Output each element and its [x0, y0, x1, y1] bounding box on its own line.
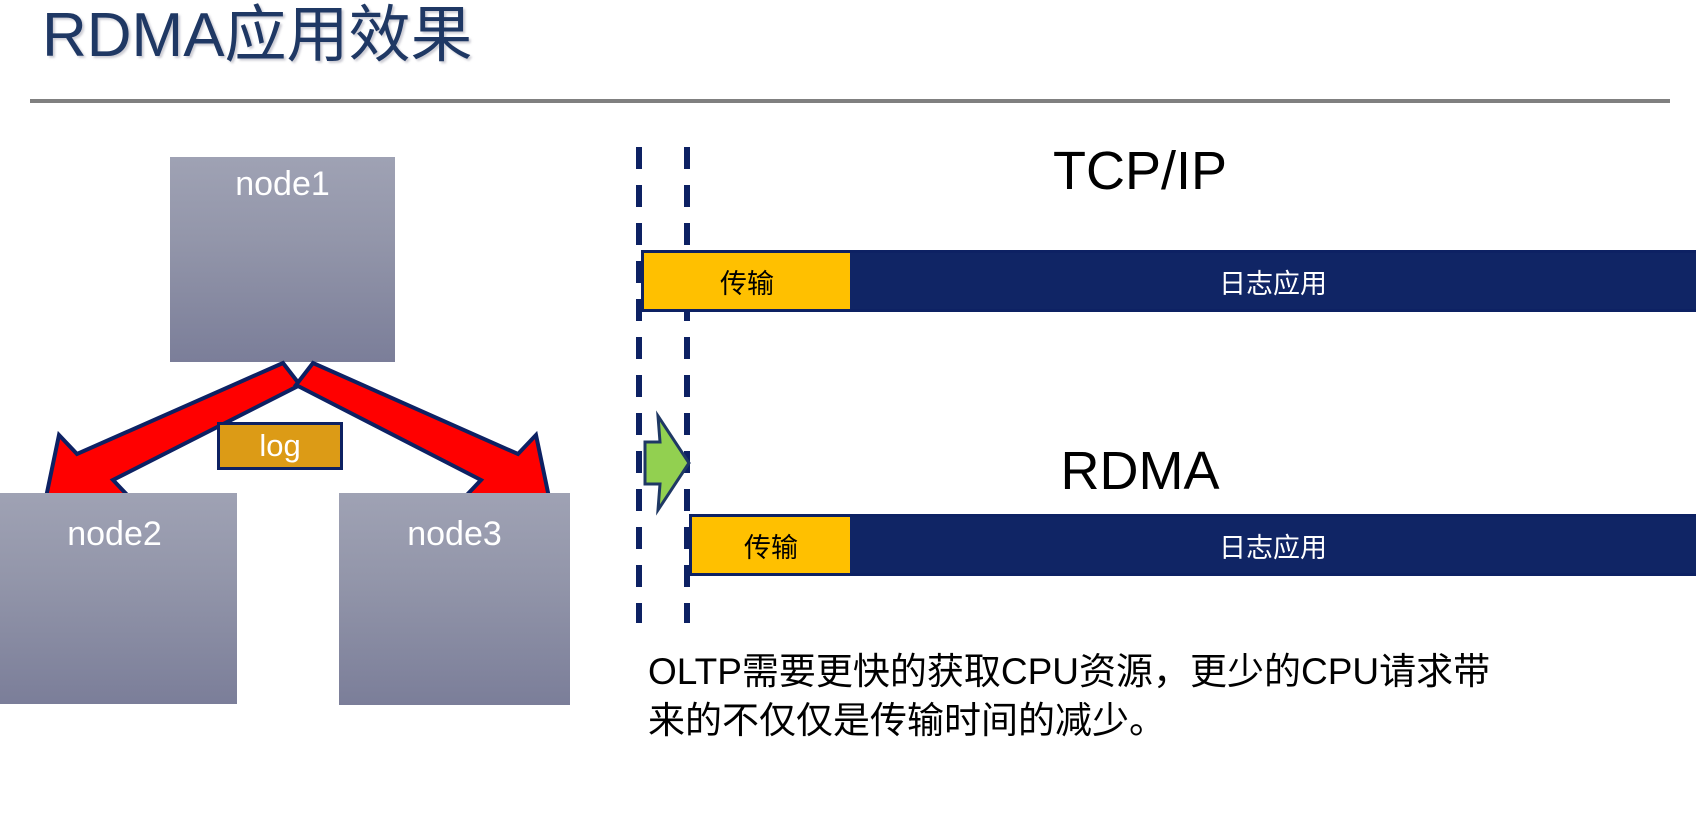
rdma-heading: RDMA: [880, 440, 1400, 502]
page-title: RDMA应用效果: [42, 2, 473, 70]
tcpip-timeline-bar: 传输 日志应用: [641, 250, 1696, 312]
tcpip-transport-segment: 传输: [644, 253, 850, 309]
log-label: log: [259, 428, 300, 463]
guide-line-start: [636, 147, 642, 623]
log-box: log: [217, 422, 343, 470]
rdma-transport-segment: 传输: [692, 517, 850, 573]
tcpip-heading: TCP/IP: [880, 140, 1400, 202]
caption-text: OLTP需要更快的获取CPU资源，更少的CPU请求带来的不仅仅是传输时间的减少。: [648, 648, 1520, 746]
rdma-timeline-bar: 传输 日志应用: [689, 514, 1696, 576]
node1-box: node1: [170, 157, 395, 362]
node3-box: node3: [339, 493, 570, 705]
node3-label: node3: [407, 515, 502, 553]
title-divider: [30, 99, 1670, 103]
node1-label: node1: [235, 165, 330, 203]
node2-label: node2: [67, 515, 162, 553]
node2-box: node2: [0, 493, 237, 704]
tcpip-application-segment: 日志应用: [850, 253, 1696, 309]
rdma-application-segment: 日志应用: [850, 517, 1696, 573]
improvement-arrow-icon: [636, 400, 700, 526]
